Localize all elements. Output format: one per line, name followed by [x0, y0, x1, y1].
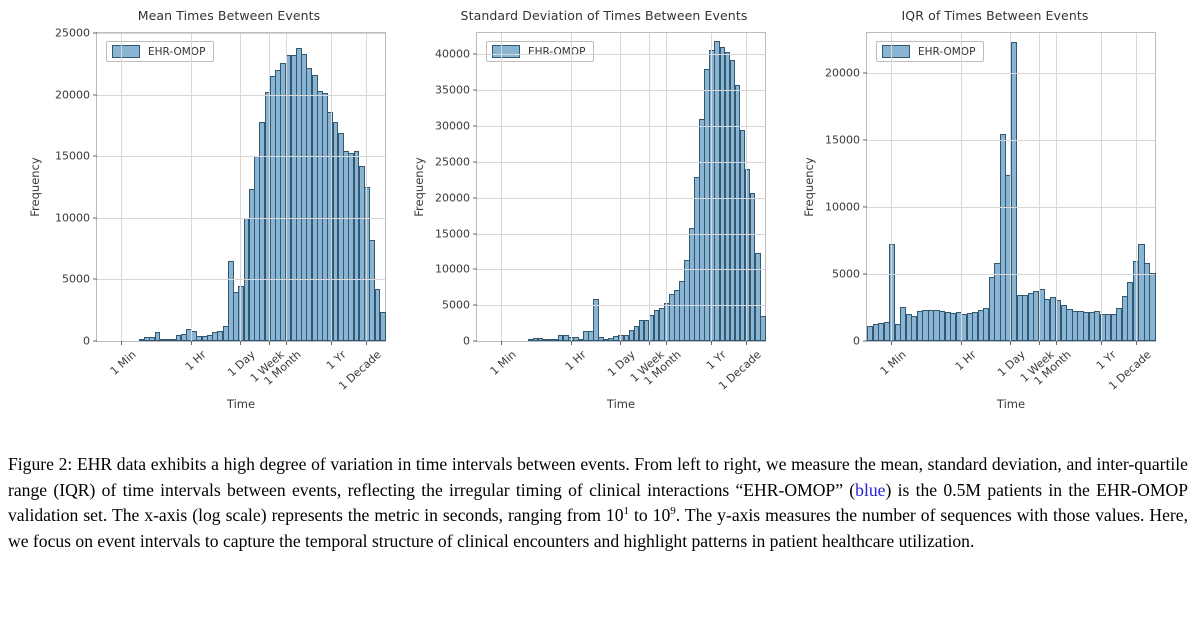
y-tick-label: 15000: [825, 134, 860, 147]
chart-panel-iqr-times: IQR of Times Between Events Frequency EH…: [770, 0, 1168, 432]
y-tick-label: 25000: [55, 27, 90, 40]
x-tick-mark: [240, 341, 241, 345]
gridline-vertical: [1101, 33, 1102, 341]
x-tick-mark: [1010, 341, 1011, 345]
y-tick-mark: [473, 126, 477, 127]
y-tick-mark: [93, 156, 97, 157]
y-tick-label: 15000: [55, 150, 90, 163]
y-tick-label: 15000: [435, 227, 470, 240]
x-tick-mark: [891, 341, 892, 345]
gridline-horizontal: [867, 140, 1155, 141]
gridline-vertical: [1056, 33, 1057, 341]
y-tick-label: 0: [853, 335, 860, 348]
y-tick-label: 25000: [435, 155, 470, 168]
x-tick-mark: [269, 341, 270, 345]
x-axis-title: Time: [866, 397, 1156, 411]
gridline-horizontal: [477, 305, 765, 306]
gridline-vertical: [1136, 33, 1137, 341]
legend-swatch-icon: [492, 45, 520, 58]
y-tick-label: 5000: [832, 268, 860, 281]
gridline-vertical: [620, 33, 621, 341]
y-tick-mark: [473, 305, 477, 306]
x-tick-mark: [191, 341, 192, 345]
gridline-vertical: [366, 33, 367, 341]
x-tick-mark: [666, 341, 667, 345]
gridline-horizontal: [867, 73, 1155, 74]
caption-text-3: to 10: [629, 505, 670, 525]
chart-legend: EHR-OMOP: [106, 41, 214, 62]
gridline-vertical: [331, 33, 332, 341]
x-tick-label: 1 Yr: [1094, 348, 1119, 372]
y-tick-mark: [863, 207, 867, 208]
caption-label: Figure 2:: [8, 454, 72, 474]
gridline-vertical: [711, 33, 712, 341]
y-tick-mark: [863, 140, 867, 141]
chart-legend: EHR-OMOP: [486, 41, 594, 62]
y-tick-mark: [93, 217, 97, 218]
y-tick-mark: [93, 33, 97, 34]
gridline-vertical: [649, 33, 650, 341]
chart-title: Mean Times Between Events: [0, 8, 398, 23]
y-tick-mark: [473, 269, 477, 270]
x-tick-mark: [366, 341, 367, 345]
y-tick-label: 10000: [825, 201, 860, 214]
chart-title: Standard Deviation of Times Between Even…: [380, 8, 778, 23]
plot-area: EHR-OMOP 05000100001500020000250001 Min1…: [96, 32, 386, 342]
gridline-vertical: [571, 33, 572, 341]
gridline-vertical: [240, 33, 241, 341]
y-tick-label: 10000: [435, 263, 470, 276]
gridline-horizontal: [867, 274, 1155, 275]
gridline-vertical: [191, 33, 192, 341]
y-axis-title: Frequency: [802, 142, 816, 232]
charts-row: Mean Times Between Events Frequency EHR-…: [0, 0, 1195, 432]
y-tick-mark: [473, 341, 477, 342]
chart-panel-mean-times: Mean Times Between Events Frequency EHR-…: [0, 0, 398, 432]
bar-series: [867, 33, 1155, 341]
x-tick-mark: [620, 341, 621, 345]
x-tick-mark: [571, 341, 572, 345]
y-tick-label: 20000: [435, 191, 470, 204]
gridline-vertical: [891, 33, 892, 341]
bar-series: [97, 33, 385, 341]
x-tick-mark: [961, 341, 962, 345]
gridline-horizontal: [97, 156, 385, 157]
y-tick-label: 20000: [55, 88, 90, 101]
x-tick-mark: [649, 341, 650, 345]
x-tick-mark: [746, 341, 747, 345]
y-tick-label: 20000: [825, 67, 860, 80]
gridline-horizontal: [97, 95, 385, 96]
x-tick-label: 1 Hr: [953, 348, 979, 373]
gridline-vertical: [1010, 33, 1011, 341]
y-tick-label: 35000: [435, 84, 470, 97]
x-tick-mark: [1056, 341, 1057, 345]
y-tick-label: 5000: [62, 273, 90, 286]
y-tick-label: 5000: [442, 299, 470, 312]
x-tick-label: 1 Hr: [183, 348, 209, 373]
x-tick-mark: [501, 341, 502, 345]
x-tick-mark: [286, 341, 287, 345]
gridline-vertical: [121, 33, 122, 341]
bar-series: [477, 33, 765, 341]
y-tick-label: 30000: [435, 120, 470, 133]
gridline-horizontal: [477, 234, 765, 235]
x-tick-mark: [331, 341, 332, 345]
x-tick-label: 1 Min: [878, 348, 909, 378]
gridline-horizontal: [477, 162, 765, 163]
gridline-vertical: [286, 33, 287, 341]
x-tick-label: 1 Min: [108, 348, 139, 378]
chart-panel-std-times: Standard Deviation of Times Between Even…: [380, 0, 778, 432]
y-tick-mark: [863, 341, 867, 342]
x-tick-mark: [711, 341, 712, 345]
x-tick-label: 1 Min: [488, 348, 519, 378]
y-axis-title: Frequency: [412, 142, 426, 232]
histogram-bar: [1149, 273, 1155, 341]
gridline-horizontal: [97, 218, 385, 219]
y-tick-label: 0: [463, 335, 470, 348]
x-tick-label: 1 Hr: [563, 348, 589, 373]
y-tick-label: 40000: [435, 48, 470, 61]
x-tick-label: 1 Yr: [704, 348, 729, 372]
gridline-vertical: [746, 33, 747, 341]
y-tick-mark: [473, 161, 477, 162]
chart-legend: EHR-OMOP: [876, 41, 984, 62]
gridline-horizontal: [477, 54, 765, 55]
gridline-horizontal: [477, 90, 765, 91]
legend-swatch-icon: [112, 45, 140, 58]
gridline-vertical: [666, 33, 667, 341]
chart-title: IQR of Times Between Events: [770, 8, 1168, 23]
plot-area: EHR-OMOP 0500010000150002000025000300003…: [476, 32, 766, 342]
y-tick-mark: [93, 279, 97, 280]
x-tick-mark: [1039, 341, 1040, 345]
y-tick-mark: [473, 197, 477, 198]
x-tick-mark: [121, 341, 122, 345]
x-tick-mark: [1101, 341, 1102, 345]
y-tick-mark: [863, 73, 867, 74]
y-tick-mark: [473, 233, 477, 234]
x-axis-title: Time: [476, 397, 766, 411]
gridline-vertical: [1039, 33, 1040, 341]
gridline-horizontal: [477, 126, 765, 127]
legend-swatch-icon: [882, 45, 910, 58]
figure-caption: Figure 2: EHR data exhibits a high degre…: [8, 452, 1188, 554]
gridline-vertical: [269, 33, 270, 341]
x-axis-title: Time: [96, 397, 386, 411]
y-tick-mark: [473, 54, 477, 55]
caption-blue-word: blue: [855, 480, 885, 500]
x-tick-mark: [1136, 341, 1137, 345]
gridline-horizontal: [97, 279, 385, 280]
plot-area: EHR-OMOP 050001000015000200001 Min1 Hr1 …: [866, 32, 1156, 342]
y-tick-label: 0: [83, 335, 90, 348]
y-axis-title: Frequency: [28, 142, 42, 232]
gridline-vertical: [961, 33, 962, 341]
y-tick-mark: [93, 341, 97, 342]
gridline-vertical: [501, 33, 502, 341]
gridline-horizontal: [867, 207, 1155, 208]
gridline-horizontal: [477, 269, 765, 270]
histogram-bar: [760, 316, 766, 341]
gridline-horizontal: [97, 33, 385, 34]
figure-container: Mean Times Between Events Frequency EHR-…: [0, 0, 1195, 638]
legend-label: EHR-OMOP: [528, 46, 585, 58]
legend-label: EHR-OMOP: [918, 46, 975, 58]
y-tick-label: 10000: [55, 211, 90, 224]
y-tick-mark: [473, 90, 477, 91]
gridline-horizontal: [477, 198, 765, 199]
y-tick-mark: [93, 94, 97, 95]
y-tick-mark: [863, 274, 867, 275]
x-tick-label: 1 Yr: [324, 348, 349, 372]
legend-label: EHR-OMOP: [148, 46, 205, 58]
